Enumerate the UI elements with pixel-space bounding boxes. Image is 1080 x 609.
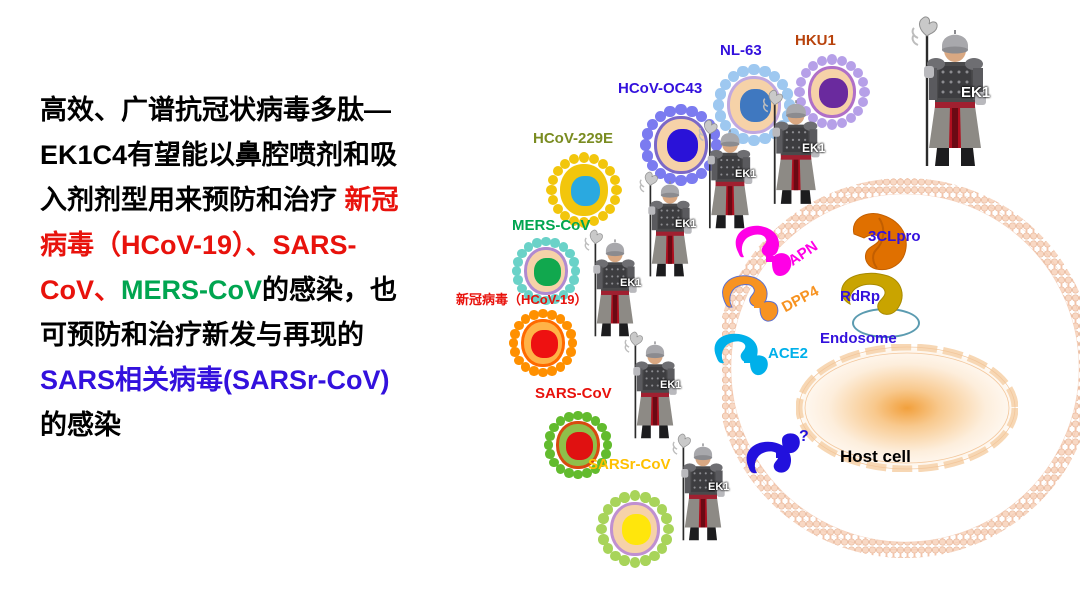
- virus-label-hcov-19: 新冠病毒（HCoV-19）: [456, 289, 587, 308]
- virus-spike: [544, 440, 554, 450]
- virus-spike: [640, 139, 651, 150]
- ek1-label: EK1: [961, 84, 990, 101]
- virus-spike: [598, 211, 608, 221]
- organelle-label-3clpro: 3CLpro: [868, 228, 921, 245]
- headline-segment: 的感染，也: [262, 275, 397, 305]
- virus-spike: [509, 338, 519, 348]
- ek1-label: EK1: [675, 218, 696, 230]
- headline-segment: 可预防和治疗新发与再现的: [40, 320, 364, 350]
- headline-line-1: 高效、广谱抗冠状病毒多肽—: [40, 88, 460, 133]
- virus-spike: [532, 238, 542, 248]
- virus-spike: [538, 309, 548, 319]
- virus-spike: [619, 555, 630, 566]
- virus-spike: [510, 329, 520, 339]
- headline-text-block: 高效、广谱抗冠状病毒多肽—EK1C4有望能以鼻腔喷剂和吸入剂剂型用来预防和治疗 …: [40, 88, 460, 448]
- virus-spike: [529, 366, 539, 376]
- virus-spike: [514, 356, 524, 366]
- headline-segment: EK1C4有望能以鼻腔喷剂和吸: [40, 140, 397, 170]
- headline-line-8: 的感染: [40, 403, 460, 448]
- virus-spike: [538, 368, 548, 378]
- virus-spike: [510, 347, 520, 357]
- virus-spike: [579, 152, 589, 162]
- headline-segment: 入剂剂型用来预防和治疗: [40, 185, 345, 215]
- headline-line-6: 可预防和治疗新发与再现的: [40, 313, 460, 358]
- ek1-soldier: EK1: [580, 228, 650, 342]
- virus-spike: [598, 513, 609, 524]
- virus-label-hcov-oc43: HCoV-OC43: [618, 80, 702, 97]
- ek1-soldier: EK1: [668, 432, 738, 546]
- virus-nucleocapsid: [571, 176, 600, 206]
- headline-line-5: CoV、MERS-CoV的感染，也: [40, 268, 460, 313]
- virus-spike: [737, 66, 748, 77]
- headline-segment: MERS-CoV: [121, 275, 262, 305]
- virus-label-hku1: HKU1: [795, 32, 836, 49]
- ek1-label: EK1: [620, 277, 641, 289]
- ek1-soldier: EK1: [620, 330, 690, 444]
- virus-spike: [715, 88, 726, 99]
- virus-spike: [603, 543, 614, 554]
- virus-nucleocapsid: [622, 514, 652, 545]
- virus-particle: [510, 310, 576, 376]
- virus-spike: [548, 175, 558, 185]
- virus-spike: [640, 555, 651, 566]
- virus-spike: [569, 154, 579, 164]
- unknown-receptor-question-mark: ?: [799, 428, 809, 446]
- headline-line-2: EK1C4有望能以鼻腔喷剂和吸: [40, 133, 460, 178]
- virus-spike: [748, 64, 759, 75]
- virus-spike: [630, 557, 641, 568]
- virus-label-nl-63: NL-63: [720, 42, 762, 59]
- virus-spike: [589, 216, 599, 226]
- virus-spike: [541, 237, 551, 247]
- virus-spike: [545, 449, 555, 459]
- headline-line-4: 病毒（HCoV-19）、SARS-: [40, 223, 460, 268]
- virus-spike: [549, 458, 559, 468]
- receptor-label-ace2: ACE2: [768, 345, 808, 362]
- headline-line-7: SARS相关病毒(SARSr-CoV): [40, 358, 460, 403]
- virus-spike: [546, 185, 556, 195]
- virus-particle: [598, 492, 672, 566]
- virus-spike: [571, 266, 581, 276]
- host-cell-label: Host cell: [840, 447, 911, 467]
- virus-spike: [566, 329, 576, 339]
- virus-label-hcov-229e: HCoV-229E: [533, 130, 613, 147]
- virus-spike: [796, 77, 806, 87]
- virus-spike: [858, 77, 868, 87]
- virus-spike: [619, 492, 630, 503]
- headline-segment: 病毒（HCoV-19）、SARS-: [40, 230, 357, 260]
- ek1-label: EK1: [660, 379, 681, 391]
- headline-segment: 高效、广谱抗冠状病毒多肽—: [40, 95, 391, 125]
- ek1-label: EK1: [708, 481, 729, 493]
- virus-label-mers-cov: MERS-CoV: [512, 217, 590, 234]
- virus-spike: [664, 106, 675, 117]
- headline-segment: CoV、: [40, 275, 121, 305]
- virus-spike: [846, 113, 856, 123]
- virus-spike: [553, 204, 563, 214]
- virus-spike: [556, 362, 566, 372]
- ek1-label: EK1: [735, 168, 756, 180]
- organelle-label-rdrp: RdRp: [840, 288, 880, 305]
- virus-spike: [859, 87, 869, 97]
- virus-spike: [596, 524, 607, 535]
- virus-spike: [601, 431, 611, 441]
- virus-spike: [817, 56, 827, 66]
- virus-spike: [513, 275, 523, 285]
- ek1-soldier: EK1: [758, 88, 834, 210]
- virus-nucleocapsid: [531, 330, 557, 358]
- ek1-soldier: EK1: [905, 14, 1005, 174]
- virus-spike: [573, 470, 583, 480]
- virus-spike: [642, 150, 653, 161]
- virus-spike: [598, 534, 609, 545]
- ek1-label: EK1: [802, 141, 825, 155]
- virus-spike: [529, 310, 539, 320]
- virus-spike: [564, 468, 574, 478]
- virus-spike: [545, 431, 555, 441]
- virus-spike: [837, 118, 847, 128]
- virus-spike: [713, 99, 724, 110]
- virus-spike: [603, 440, 613, 450]
- virus-spike: [513, 257, 523, 267]
- virus-label-sarsr-cov: SARSr-CoV: [588, 456, 671, 473]
- unknown-receptor-icon: [742, 424, 822, 502]
- virus-spike: [675, 104, 686, 115]
- virus-particle: [548, 154, 620, 226]
- headline-segment: 新冠: [345, 185, 399, 215]
- virus-spike: [569, 257, 579, 267]
- virus-nucleocapsid: [534, 258, 560, 286]
- slide-canvas: 高效、广谱抗冠状病毒多肽—EK1C4有望能以鼻腔喷剂和吸入剂剂型用来预防和治疗 …: [0, 0, 1080, 609]
- virus-spike: [611, 185, 621, 195]
- virus-spike: [827, 54, 837, 64]
- virus-spike: [547, 366, 557, 376]
- virus-spike: [649, 551, 660, 562]
- headline-segment: 的感染: [40, 410, 121, 440]
- organelle-label-endosome: Endosome: [820, 330, 897, 347]
- virus-spike: [512, 266, 522, 276]
- virus-spike: [573, 411, 583, 421]
- virus-label-sars-cov: SARS-CoV: [535, 385, 612, 402]
- virus-spike: [642, 128, 653, 139]
- virus-spike: [564, 412, 574, 422]
- virus-spike: [568, 338, 578, 348]
- headline-segment: SARS相关病毒(SARSr-CoV): [40, 365, 390, 395]
- virus-spike: [630, 490, 641, 501]
- virus-spike: [610, 175, 620, 185]
- headline-line-3: 入剂剂型用来预防和治疗 新冠: [40, 178, 460, 223]
